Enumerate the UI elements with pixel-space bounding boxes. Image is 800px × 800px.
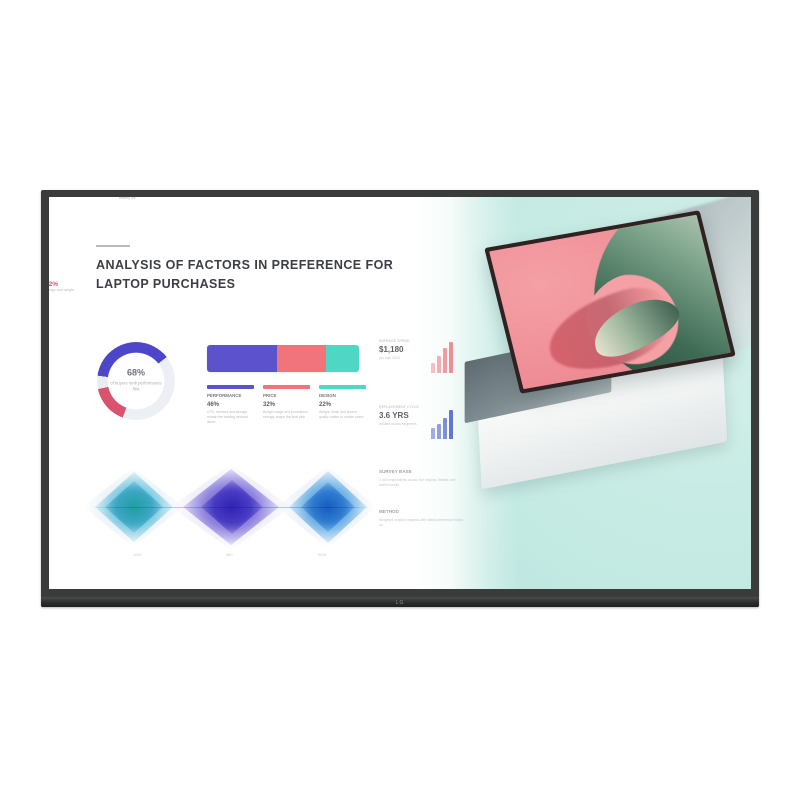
monitor-frame: ANALYSIS OF FACTORS IN PREFERENCE FOR LA… [41,190,759,607]
legend-value: 32% [263,401,310,409]
note-body: 2,400 respondents across five regions, f… [379,478,465,489]
sparkline-bar [437,356,441,373]
legend-title: PRICE [263,393,310,399]
title-rule [96,245,130,247]
stacked-bar-segment [207,345,277,372]
donut-footnote-value: 22% [49,281,74,288]
legend-item: DESIGN22%Weight, finish and screen quali… [319,385,366,425]
presentation-slide: ANALYSIS OF FACTORS IN PREFERENCE FOR LA… [49,197,751,589]
stacked-bar-chart [207,345,359,372]
sparkline-bar [449,342,453,373]
sparkline-bar [443,418,447,439]
legend-item: PRICE32%Budget range and promotions stro… [263,385,310,425]
mini-stat-average-spend: AVERAGE SPEND $1,180 per unit, 2024 [379,339,471,361]
mini-stat-replacement-cycle: REPLACEMENT CYCLE 3.6 YRS median across … [379,405,471,427]
mini-stat-label: REPLACEMENT CYCLE [379,405,471,410]
violin-tick-label: LOW [134,553,142,557]
note-title: SURVEY BASE [379,469,465,475]
legend-title: PERFORMANCE [207,393,254,399]
note-body: Weighted conjoint analysis with stated p… [379,518,465,529]
laptop-product-photo [451,197,751,589]
mini-stat-value: $1,180 [379,345,471,355]
slide-content: ANALYSIS OF FACTORS IN PREFERENCE FOR LA… [49,197,469,589]
monitor-screen: ANALYSIS OF FACTORS IN PREFERENCE FOR LA… [49,197,751,589]
donut-footnote-label: design and weight [49,288,74,293]
sparkline-bar [431,428,435,439]
page-title: ANALYSIS OF FACTORS IN PREFERENCE FOR LA… [96,256,416,295]
legend-value: 46% [207,401,254,409]
legend-item: PERFORMANCE46%CPU, memory and storage re… [207,385,254,425]
donut-value: 68% [110,369,162,378]
note-title: METHOD [379,509,465,515]
mini-stat-label: AVERAGE SPEND [379,339,471,344]
legend-description: CPU, memory and storage remain the leadi… [207,410,254,425]
sparkline-bar [431,363,435,373]
violin-distribution-chart: LOWMIDHIGH [91,465,369,549]
note-survey-base: SURVEY BASE 2,400 respondents across fiv… [379,469,465,489]
donut-caption: of buyers rank performance first [110,381,162,394]
legend-swatch [263,385,310,389]
note-method: METHOD Weighted conjoint analysis with s… [379,509,465,529]
mini-stat-sparkline [431,341,453,373]
violin-tick-label: HIGH [318,553,326,557]
stacked-bar-segment [326,345,359,372]
donut-center: 68% of buyers rank performance first [110,369,162,394]
mini-stat-sub: per unit, 2024 [379,356,471,361]
monitor-brand-logo: LG [396,600,404,606]
mini-stat-sparkline [431,407,453,439]
legend-description: Budget range and promotions strongly sha… [263,410,310,420]
violin-tick-labels: LOWMIDHIGH [91,553,369,557]
violin-tick-label: MID [227,553,233,557]
sparkline-bar [443,348,447,373]
sparkline-bar [449,410,453,439]
laptop-wallpaper [489,215,731,389]
sparkline-bar [437,424,441,439]
donut-badge-label: battery life [119,197,136,200]
legend-value: 22% [319,401,366,409]
donut-footnote: 22% design and weight [49,281,74,293]
legend-swatch [319,385,366,389]
donut-chart: 68% of buyers rank performance first [97,342,175,420]
mini-stat-value: 3.6 YRS [379,411,471,421]
stacked-bar-legend: PERFORMANCE46%CPU, memory and storage re… [207,385,367,425]
mini-stat-sub: median across segments [379,422,471,427]
legend-swatch [207,385,254,389]
stacked-bar-segment [277,345,326,372]
legend-title: DESIGN [319,393,366,399]
page-background: ANALYSIS OF FACTORS IN PREFERENCE FOR LA… [0,0,800,800]
legend-description: Weight, finish and screen quality matter… [319,410,366,420]
